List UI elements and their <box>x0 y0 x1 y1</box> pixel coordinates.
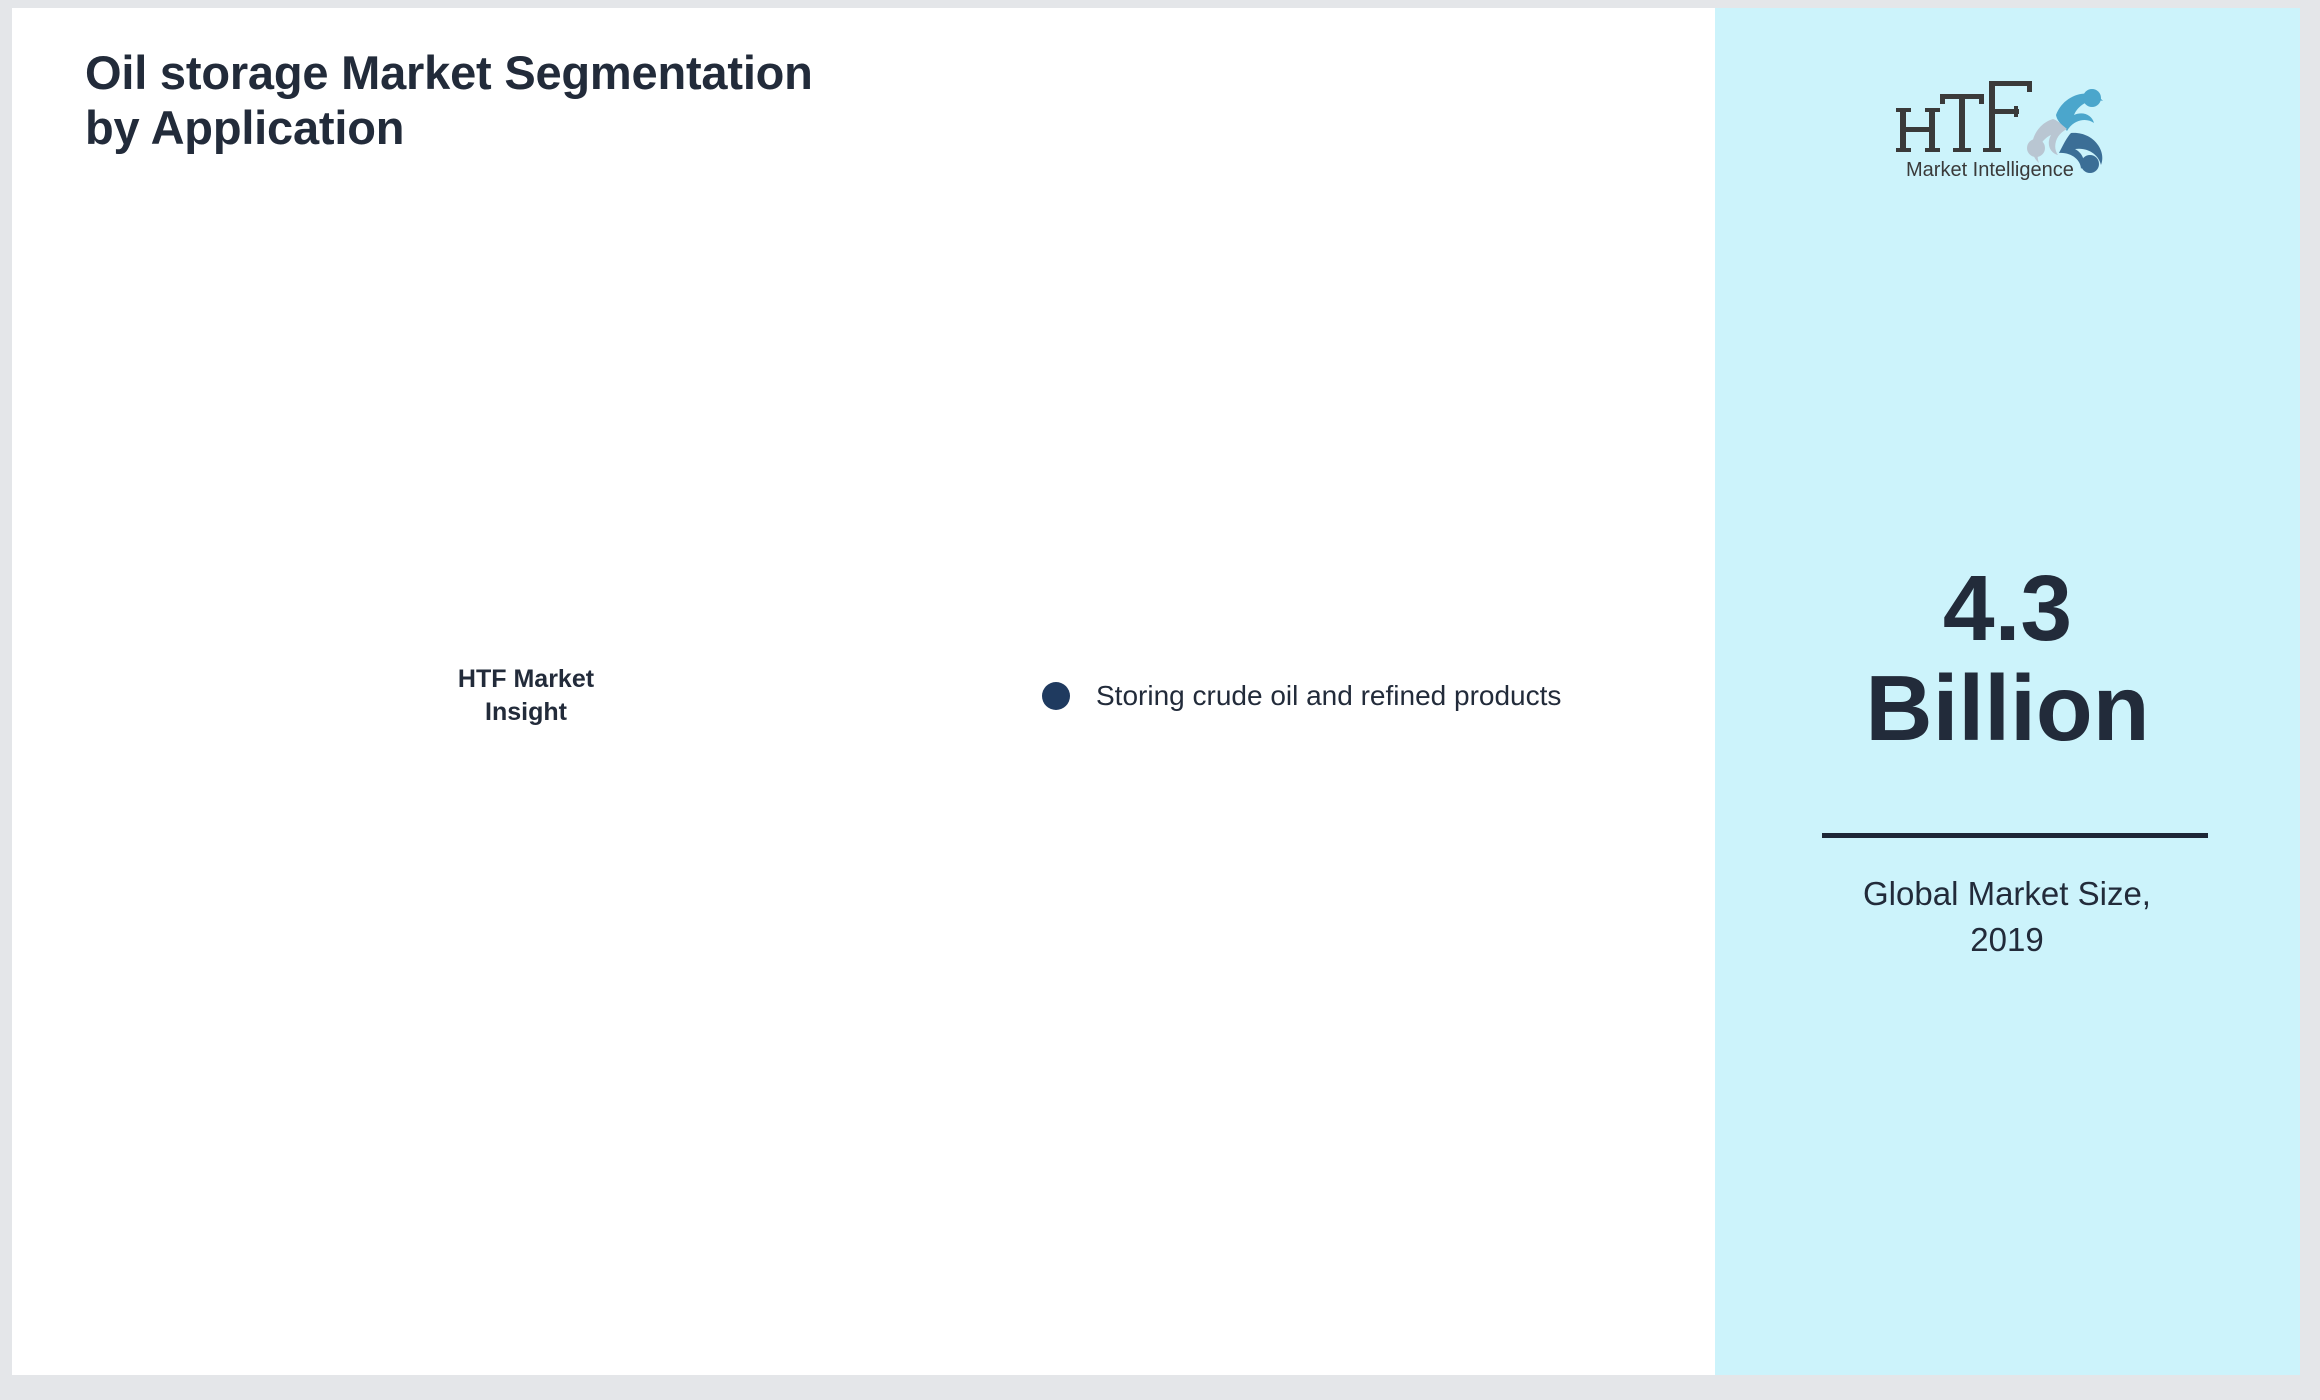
stat-caption: Global Market Size, 2019 <box>1757 871 2257 962</box>
legend-item[interactable]: Storing crude oil and refined products <box>1042 680 1561 712</box>
htf-wordmark-icon <box>1896 81 2032 152</box>
page-title: Oil storage Market Segmentation by Appli… <box>85 46 1285 155</box>
pie-chart: HTF Market Insight Storing crude oil and… <box>12 158 1715 1338</box>
chart-legend: Storing crude oil and refined products <box>1042 680 1561 712</box>
stat-divider <box>1822 833 2208 838</box>
legend-swatch-icon <box>1042 682 1070 710</box>
slide-canvas: Oil storage Market Segmentation by Appli… <box>12 8 2300 1375</box>
logo-tagline: Market Intelligence <box>1906 159 2074 181</box>
pie-center-label: HTF Market Insight <box>306 663 746 728</box>
stat-value: 4.3 Billion <box>1715 558 2300 759</box>
htf-market-intelligence-logo: Market Intelligence <box>1893 63 2123 183</box>
stat-panel: Market Intelligence 4.3 Billion Global M… <box>1715 8 2300 1375</box>
chart-panel: Oil storage Market Segmentation by Appli… <box>12 8 1715 1375</box>
legend-item-label: Storing crude oil and refined products <box>1096 680 1561 712</box>
